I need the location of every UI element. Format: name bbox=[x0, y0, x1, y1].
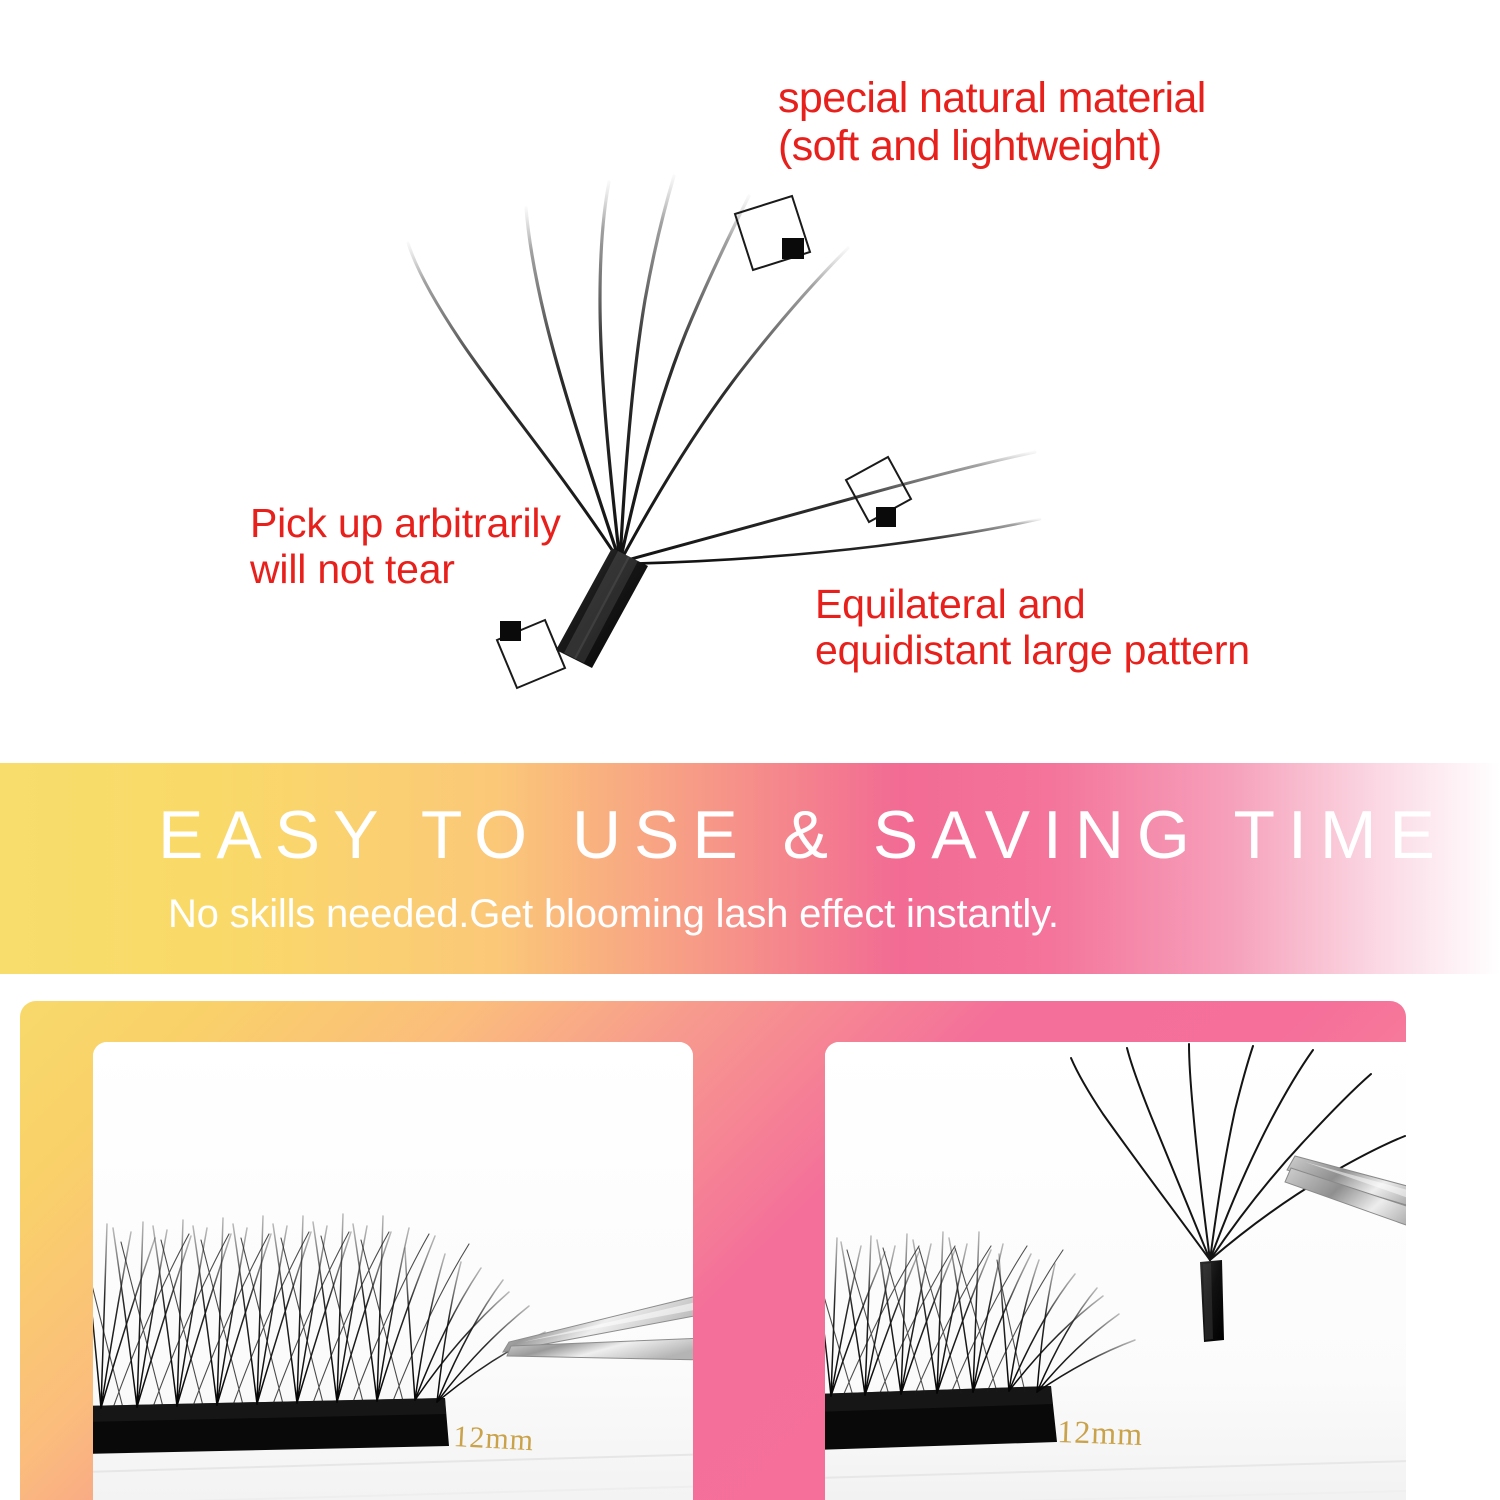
photo-lash-fan-pickup: 12mm bbox=[825, 1042, 1406, 1500]
callout-label-pickup: Pick up arbitrarily will not tear bbox=[250, 501, 561, 593]
banner-headline: EASY TO USE & SAVING TIME bbox=[158, 801, 1448, 869]
callout-label-material: special natural material (soft and light… bbox=[778, 74, 1206, 170]
tray-size-label: 12mm bbox=[1057, 1413, 1144, 1452]
callout-marker-upper-icon bbox=[735, 196, 810, 270]
product-infographic-page: special natural material (soft and light… bbox=[0, 0, 1500, 1500]
photo-card-lash-pickup: 12mm bbox=[825, 1042, 1406, 1500]
banner-subheadline: No skills needed.Get blooming lash effec… bbox=[168, 894, 1059, 934]
lash-base bbox=[556, 548, 648, 668]
photo-card-lash-tray: 12mm bbox=[93, 1042, 693, 1500]
photo-lash-tray-closeup: 12mm bbox=[93, 1042, 693, 1500]
banner-section: EASY TO USE & SAVING TIME No skills need… bbox=[0, 763, 1500, 974]
callout-marker-base-icon bbox=[497, 620, 565, 688]
tray-size-label: 12mm bbox=[453, 1420, 535, 1457]
hero-section: special natural material (soft and light… bbox=[0, 0, 1500, 755]
photo-panel-section: 12mm bbox=[20, 1001, 1406, 1500]
callout-label-equilateral: Equilateral and equidistant large patter… bbox=[815, 582, 1250, 674]
lash-fan-illustration bbox=[0, 0, 1500, 755]
